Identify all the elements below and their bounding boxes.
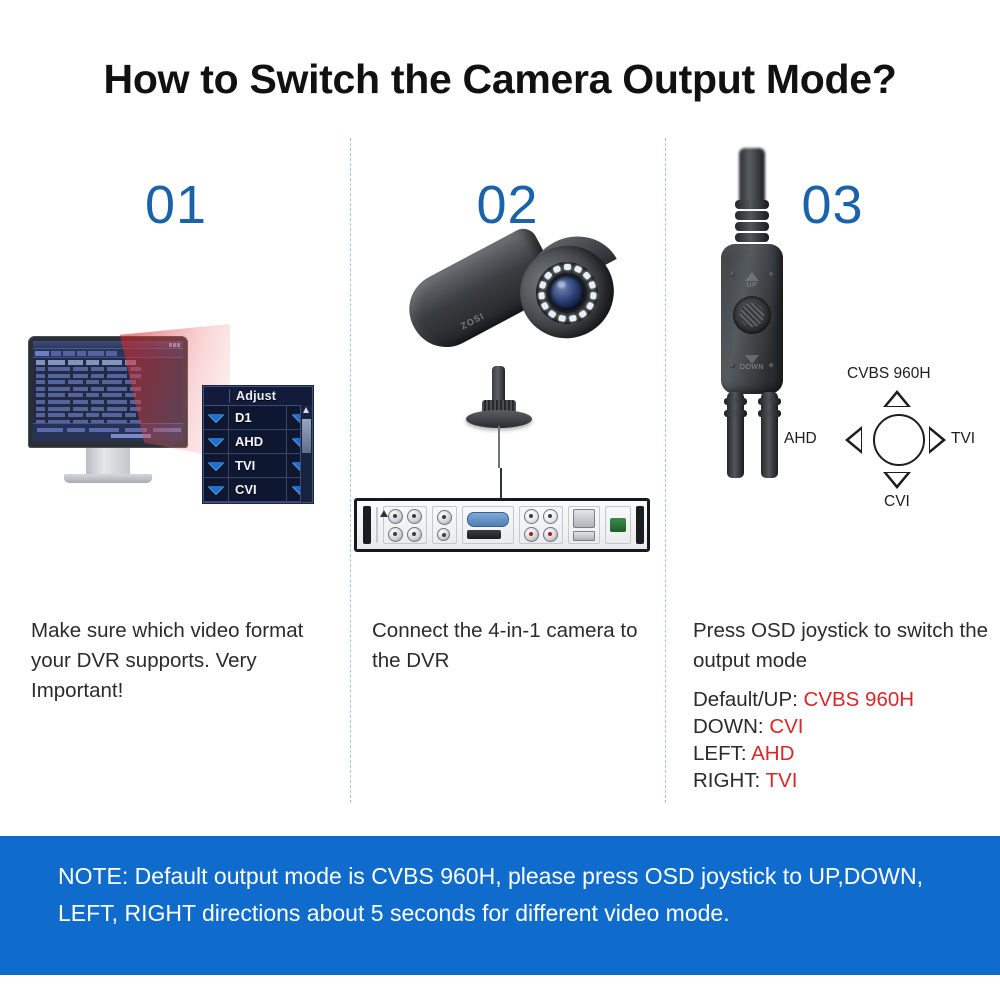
mode-value: CVI: [769, 715, 803, 738]
page-title: How to Switch the Camera Output Mode?: [0, 56, 1000, 103]
camera-lens: [550, 276, 584, 310]
camera-cable: [498, 426, 500, 468]
monitor-stand-neck: [86, 448, 130, 476]
mode-value: CVBS 960H: [804, 688, 915, 711]
arrow-down-icon: [883, 472, 911, 489]
adjust-menu-title: Adjust: [236, 389, 276, 403]
triangle-down-icon: [745, 355, 759, 364]
osd-strain-relief: [735, 200, 769, 209]
power-terminal-group: [605, 506, 631, 544]
step-column-1: 01: [0, 138, 350, 803]
osd-strain-relief: [735, 222, 769, 231]
joystick-circle: [873, 414, 925, 466]
osd-up-marking: UP: [735, 272, 769, 289]
audio-rca-group: [519, 506, 563, 544]
step-3-caption: Press OSD joystick to switch the output …: [693, 616, 993, 676]
osd-cable-band: [724, 398, 747, 405]
step-column-2: 02 ZOSI: [350, 138, 665, 803]
joystick-grip-texture: [740, 303, 764, 327]
note-text: NOTE: Default output mode is CVBS 960H, …: [58, 858, 942, 932]
power-terminal: [610, 518, 626, 532]
arrow-up-icon: [883, 390, 911, 407]
vga-port: [467, 512, 509, 527]
osd-cable-band: [724, 410, 747, 417]
osd-up-marking-label: UP: [747, 282, 758, 289]
network-usb-group: [568, 506, 600, 544]
mode-value: AHD: [751, 742, 794, 765]
ethernet-port: [573, 509, 595, 528]
osd-down-marking-label: DOWN: [740, 364, 764, 371]
adjust-row-label: TVI: [229, 458, 286, 473]
adjust-row-cvi[interactable]: CVI: [204, 478, 312, 502]
dvr-left-bracket: [363, 506, 371, 544]
mode-key: LEFT:: [693, 742, 747, 765]
bullet-camera: ZOSI: [408, 238, 608, 468]
hdmi-port: [467, 530, 501, 539]
dvr-warning-label: [376, 507, 378, 543]
osd-joystick-button[interactable]: [733, 296, 771, 334]
adjust-row-label: AHD: [229, 434, 286, 449]
adjust-row-label: D1: [229, 410, 286, 425]
mode-key: Default/UP:: [693, 688, 798, 711]
joystick-direction-diagram: CVBS 960H AHD TVI CVI: [795, 360, 995, 520]
osd-strain-relief: [735, 233, 769, 242]
step-3-caption-block: Press OSD joystick to switch the output …: [693, 616, 993, 794]
joystick-left-label: AHD: [784, 430, 817, 448]
mode-key: RIGHT:: [693, 769, 760, 792]
decrement-arrow-icon[interactable]: [204, 406, 229, 429]
scrollbar-thumb[interactable]: [302, 419, 311, 453]
joystick-right-label: TVI: [951, 430, 975, 448]
osd-strain-relief: [735, 211, 769, 220]
osd-down-marking: DOWN: [735, 354, 769, 371]
adjust-menu-scrollbar[interactable]: [300, 405, 312, 502]
decrement-arrow-icon[interactable]: [204, 478, 229, 501]
mode-key: DOWN:: [693, 715, 764, 738]
osd-joystick-housing: UP DOWN: [721, 244, 783, 394]
dvr-rear-panel: [354, 498, 650, 552]
osd-cable-upper: [739, 148, 765, 208]
scroll-up-icon[interactable]: [303, 407, 309, 413]
joystick-up-label: CVBS 960H: [847, 365, 931, 383]
dvr-right-bracket: [636, 506, 644, 544]
mode-row-down: DOWN: CVI: [693, 713, 993, 740]
osd-cable-band: [758, 398, 781, 405]
bnc-video-out-group: [432, 506, 457, 544]
monitor-stand-base: [64, 474, 152, 483]
output-mode-list: Default/UP: CVBS 960H DOWN: CVI LEFT: AH…: [693, 686, 993, 794]
adjust-row-tvi[interactable]: TVI: [204, 454, 312, 478]
bnc-video-in-group-1: [383, 506, 427, 544]
triangle-up-icon: [745, 272, 759, 281]
osd-cable-band: [758, 410, 781, 417]
adjust-row-label: CVI: [229, 482, 286, 497]
video-display-port-group: [462, 506, 514, 544]
step-column-3: 03 UP DOWN: [665, 138, 1000, 803]
dvr-connection-cable: [500, 468, 502, 500]
screw-icon: [769, 272, 774, 277]
mode-row-left: LEFT: AHD: [693, 740, 993, 767]
mode-value: TVI: [766, 769, 798, 792]
arrow-left-icon: [845, 426, 862, 454]
note-banner: NOTE: Default output mode is CVBS 960H, …: [0, 836, 1000, 975]
screw-icon: [769, 363, 774, 368]
adjust-menu-panel: Adjust D1 AHD TVI CVI: [203, 386, 313, 503]
adjust-row-ahd[interactable]: AHD: [204, 430, 312, 454]
step-1-illustration: Adjust D1 AHD TVI CVI: [0, 138, 350, 608]
step-2-caption: Connect the 4-in-1 camera to the DVR: [372, 616, 657, 676]
decrement-arrow-icon[interactable]: [204, 430, 229, 453]
arrow-right-icon: [929, 426, 946, 454]
step-2-illustration: ZOSI: [350, 138, 665, 608]
mode-row-default-up: Default/UP: CVBS 960H: [693, 686, 993, 713]
step-3-illustration: UP DOWN CVBS 960H AHD TVI: [665, 138, 1000, 608]
step-1-caption: Make sure which video format your DVR su…: [31, 616, 331, 706]
adjust-menu-header: Adjust: [204, 387, 312, 406]
mode-row-right: RIGHT: TVI: [693, 767, 993, 794]
joystick-down-label: CVI: [884, 493, 910, 511]
usb-port: [573, 531, 595, 541]
decrement-arrow-icon[interactable]: [204, 454, 229, 477]
adjust-row-d1[interactable]: D1: [204, 406, 312, 430]
